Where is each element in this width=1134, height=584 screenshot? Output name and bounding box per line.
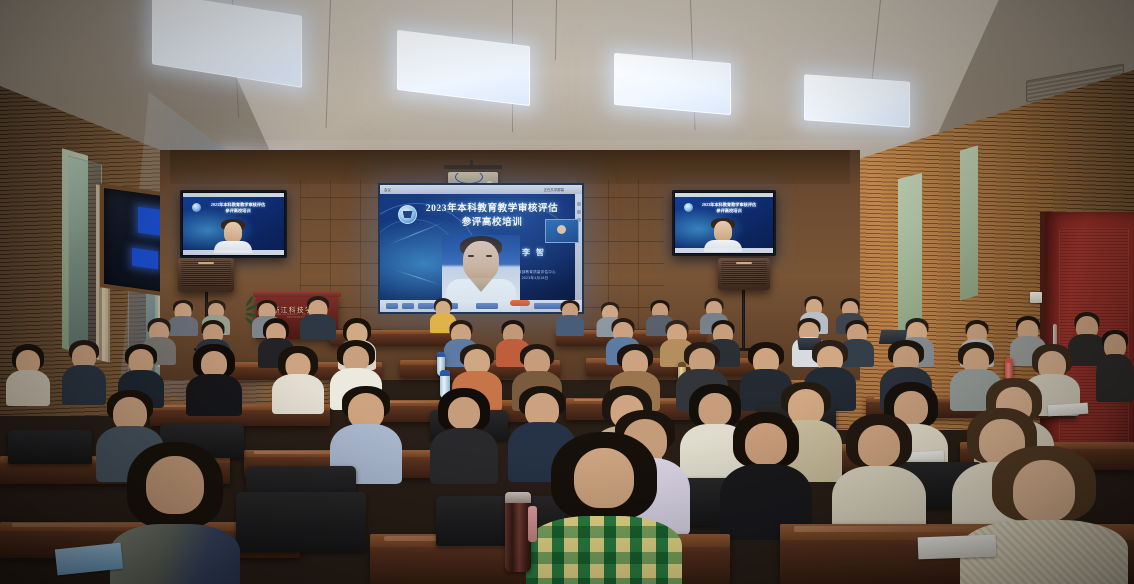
conference-hall-photo: 2023年本科教育教学审核评估 参评高校培训 李 智 教育部教育质量评估中心 2… (0, 0, 1134, 584)
projector-mount-pole (470, 160, 473, 168)
attendee-head (1013, 460, 1075, 522)
attendee (556, 300, 584, 334)
attendee-body (272, 374, 324, 414)
attendee-body (1096, 354, 1134, 402)
chair (8, 430, 92, 464)
slide-title-line2: 参评高校培训 (422, 217, 562, 231)
attendee-foreground-center (526, 432, 682, 584)
attendee-foreground-left (110, 442, 240, 584)
attendee-partial-right-edge (1096, 330, 1134, 400)
projector-mount-arm (444, 165, 502, 169)
right-monitor-topbar (675, 193, 773, 197)
toolbar-button-chat[interactable] (476, 303, 498, 309)
sidebar-button[interactable] (577, 210, 581, 214)
right-monitor-speaker-head (714, 221, 732, 242)
recording-indicator (510, 300, 530, 306)
speaker-eye-right (486, 255, 492, 257)
left-monitor-title-line1: 2023年本科教育教学审核评估 (211, 202, 265, 207)
attendee-body (430, 428, 498, 484)
control-room-monitor (132, 248, 158, 270)
left-speaker-badge (198, 262, 214, 264)
attendee-foreground-right (960, 446, 1128, 584)
speaker-affiliation: 教育部教育质量评估中心 2023年4月18日 (502, 269, 568, 281)
ceiling-led-panel (804, 74, 910, 127)
attendee-body (526, 516, 682, 584)
right-monitor-bottombar (675, 248, 773, 253)
speaker-eye-left (468, 255, 474, 257)
attendee-head (574, 448, 634, 508)
front-valance (170, 150, 850, 184)
ceiling-led-panel (614, 53, 731, 115)
right-wall-monitor: 2023年本科教育教学审核评估 参评高校培训 (672, 190, 776, 256)
left-monitor-title-line2: 参评高校培训 (225, 208, 250, 213)
speaker-name-label: 李 智 (522, 247, 546, 258)
attendee-head (745, 423, 787, 465)
attendee-body (110, 524, 240, 584)
videoconf-sidebar[interactable] (575, 194, 582, 300)
right-monitor-emblem-icon (684, 203, 693, 212)
handout-paper (918, 535, 997, 560)
attendee (186, 344, 242, 410)
right-monitor-title-line2: 参评高校培训 (716, 208, 741, 213)
attendee (832, 414, 926, 534)
speaker-affiliation-line2: 2023年4月18日 (522, 276, 549, 280)
slide-title-line1: 2023年本科教育教学审核评估 (426, 204, 559, 214)
left-monitor-emblem-icon (192, 203, 201, 212)
green-accent-wall-right2 (960, 145, 978, 300)
bottle-cap (437, 352, 445, 357)
attendee-head (858, 425, 900, 467)
left-monitor-topbar (183, 193, 284, 197)
bottle-cap (1005, 358, 1013, 363)
water-bottle (1005, 358, 1013, 380)
speaker-head (463, 241, 499, 281)
videoconf-self-thumbnail[interactable] (545, 219, 579, 243)
attendee (272, 346, 324, 410)
videoconf-topbar-right-text: 正在共享屏幕 (544, 187, 564, 192)
university-emblem-icon (398, 205, 417, 224)
right-speaker-stand (742, 286, 745, 350)
sidebar-button[interactable] (577, 202, 581, 206)
videoconf-topbar-left-text: 会议 (384, 187, 391, 192)
attendee-head (448, 397, 480, 429)
attendee-body (6, 370, 50, 406)
slide-title: 2023年本科教育教学审核评估 参评高校培训 (422, 203, 562, 231)
light-switch[interactable] (1030, 292, 1042, 303)
attendee (330, 386, 402, 478)
right-monitor-title: 2023年本科教育教学审核评估 参评高校培训 (695, 202, 763, 214)
right-speaker-badge (736, 262, 752, 264)
thermos-cap (505, 492, 531, 503)
left-pa-speaker (178, 258, 234, 292)
speaker-affiliation-line1: 教育部教育质量评估中心 (514, 270, 556, 274)
chair-foreground (236, 492, 366, 552)
right-speaker-grille (721, 261, 767, 284)
attendee (430, 388, 498, 478)
left-monitor-title: 2023年本科教育教学审核评估 参评高校培训 (203, 202, 273, 214)
attendee (6, 344, 50, 402)
left-wall-monitor: 2023年本科教育教学审核评估 参评高校培训 (180, 190, 287, 258)
toolbar-button-mute[interactable] (386, 303, 398, 309)
projector-cable (455, 170, 483, 184)
thumbnail-face (557, 225, 566, 234)
videoconf-toolbar[interactable] (380, 300, 582, 312)
right-monitor-title-line1: 2023年本科教育教学审核评估 (702, 202, 756, 207)
attendee-at-podium (300, 296, 336, 338)
thermos-strap (528, 506, 537, 542)
attendee-body (300, 314, 336, 340)
bottle-cap (440, 370, 450, 376)
videoconf-topbar: 会议 正在共享屏幕 (380, 185, 582, 194)
toolbar-button-video[interactable] (402, 303, 414, 309)
left-monitor-speaker-head (224, 222, 242, 243)
right-pa-speaker (718, 258, 770, 290)
attendee-body (556, 315, 584, 336)
attendee-body (186, 374, 242, 416)
attendee (720, 412, 812, 532)
left-monitor-bottombar (183, 250, 284, 255)
projection-screen: 2023年本科教育教学审核评估 参评高校培训 李 智 教育部教育质量评估中心 2… (378, 183, 584, 314)
right-monitor-screen: 2023年本科教育教学审核评估 参评高校培训 (675, 193, 773, 253)
left-speaker-grille (181, 261, 231, 286)
attendee-head (146, 456, 204, 514)
left-monitor-screen: 2023年本科教育教学审核评估 参评高校培训 (183, 193, 284, 255)
